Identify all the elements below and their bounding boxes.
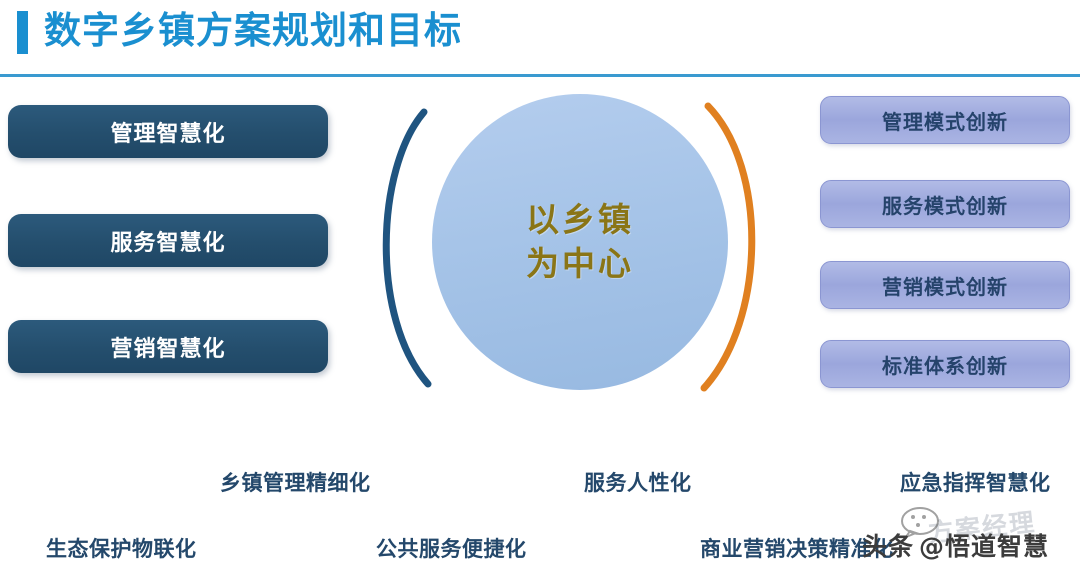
outcome-label-2: 服务人性化 bbox=[584, 467, 692, 497]
right-innovation-box-2[interactable]: 服务模式创新 bbox=[820, 180, 1070, 228]
page-title: 数字乡镇方案规划和目标 bbox=[44, 6, 462, 56]
center-circle: 以乡镇 为中心 bbox=[432, 94, 728, 390]
right-innovation-label: 服务模式创新 bbox=[882, 190, 1008, 219]
left-capability-box-2[interactable]: 服务智慧化 bbox=[8, 214, 328, 267]
center-circle-line-2: 为中心 bbox=[526, 242, 634, 286]
right-innovation-label: 标准体系创新 bbox=[882, 350, 1008, 379]
right-innovation-label: 管理模式创新 bbox=[882, 106, 1008, 135]
center-focus-group: 以乡镇 为中心 bbox=[370, 88, 770, 400]
outcome-label-1: 乡镇管理精细化 bbox=[220, 467, 371, 497]
right-innovation-label: 营销模式创新 bbox=[882, 271, 1008, 300]
watermark-platform-label: 头条 bbox=[862, 527, 914, 563]
outcome-label-3: 应急指挥智慧化 bbox=[900, 467, 1051, 497]
left-capability-box-1[interactable]: 管理智慧化 bbox=[8, 105, 328, 158]
right-innovation-box-1[interactable]: 管理模式创新 bbox=[820, 96, 1070, 144]
outcome-label-4: 生态保护物联化 bbox=[46, 533, 197, 563]
slide-canvas: 数字乡镇方案规划和目标 管理智慧化 服务智慧化 营销智慧化 以乡镇 为中心 管理… bbox=[0, 0, 1080, 575]
watermark: 头条 @悟道智慧 bbox=[862, 527, 1049, 563]
title-accent-bar bbox=[17, 11, 28, 54]
left-capability-label: 服务智慧化 bbox=[110, 225, 225, 257]
left-arc-icon bbox=[386, 112, 428, 384]
watermark-handle-label: @悟道智慧 bbox=[919, 527, 1049, 563]
left-capability-label: 营销智慧化 bbox=[110, 331, 225, 363]
right-innovation-box-3[interactable]: 营销模式创新 bbox=[820, 261, 1070, 309]
right-innovation-box-4[interactable]: 标准体系创新 bbox=[820, 340, 1070, 388]
center-circle-line-1: 以乡镇 bbox=[526, 198, 634, 242]
left-capability-box-3[interactable]: 营销智慧化 bbox=[8, 320, 328, 373]
slide-header: 数字乡镇方案规划和目标 bbox=[0, 0, 1080, 78]
left-capability-label: 管理智慧化 bbox=[110, 116, 225, 148]
outcome-label-5: 公共服务便捷化 bbox=[376, 533, 527, 563]
header-divider bbox=[0, 74, 1080, 77]
